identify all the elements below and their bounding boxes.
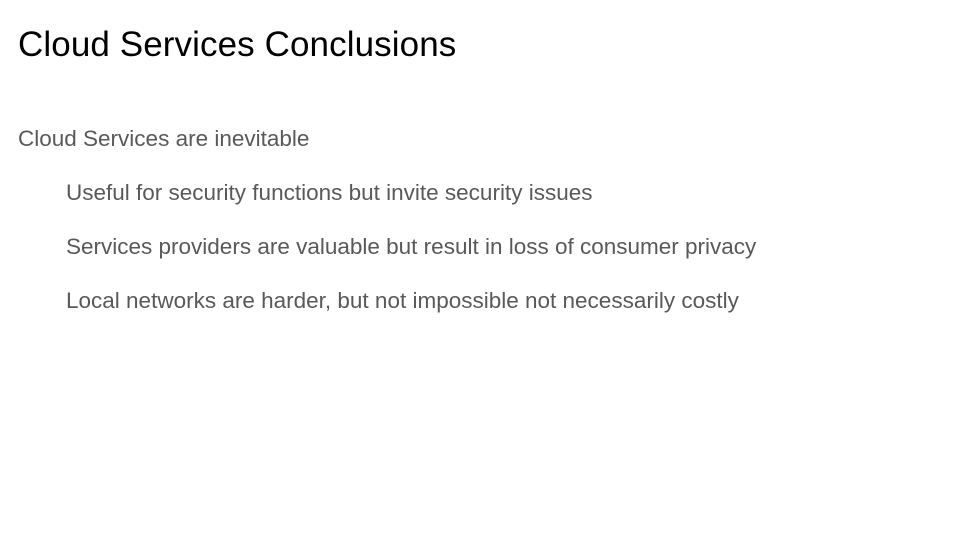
bullet-level2-3: Local networks are harder, but not impos…	[66, 286, 938, 316]
slide-body: Cloud Services are inevitable Useful for…	[18, 124, 938, 316]
slide-title: Cloud Services Conclusions	[18, 24, 918, 66]
slide: Cloud Services Conclusions Cloud Service…	[0, 0, 960, 540]
bullet-level2-2: Services providers are valuable but resu…	[66, 232, 938, 262]
bullet-level2-1: Useful for security functions but invite…	[66, 178, 938, 208]
bullet-level1-1: Cloud Services are inevitable	[18, 124, 938, 154]
